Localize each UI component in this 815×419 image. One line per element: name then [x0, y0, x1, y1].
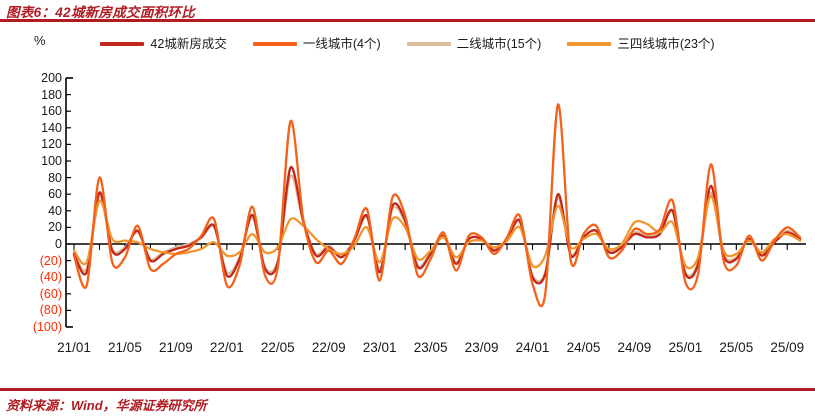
y-axis-tick-label: (20)	[16, 254, 62, 267]
y-axis-tick-label: (100)	[16, 321, 62, 334]
x-axis-tick-labels: 21/0121/0521/0922/0122/0522/0923/0123/05…	[0, 341, 815, 367]
y-axis-tick-label: 180	[16, 88, 62, 101]
x-axis-tick-label: 25/01	[668, 341, 702, 355]
x-axis-tick-label: 21/05	[108, 341, 142, 355]
legend-swatch-icon	[567, 42, 611, 46]
x-axis-tick-label: 24/01	[516, 341, 550, 355]
y-axis-tick-label: 80	[16, 171, 62, 184]
y-axis-tick-label: 0	[16, 238, 62, 251]
y-axis-tick-label: (80)	[16, 304, 62, 317]
footer-divider	[0, 388, 815, 391]
x-axis-tick-label: 21/09	[159, 341, 193, 355]
x-axis-tick-label: 22/09	[312, 341, 346, 355]
legend-item-1[interactable]: 一线城市(4个)	[253, 38, 381, 51]
chart-legend: 42城新房成交一线城市(4个)二线城市(15个)三四线城市(23个)	[0, 34, 815, 54]
x-axis-tick-label: 24/09	[618, 341, 652, 355]
y-axis-tick-label: 140	[16, 122, 62, 135]
y-axis-tick-label: (40)	[16, 271, 62, 284]
y-axis-tick-labels: 200180160140120100806040200(20)(40)(60)(…	[10, 60, 62, 360]
source-note: 资料来源：Wind，华源证券研究所	[6, 395, 207, 414]
chart-svg	[0, 60, 815, 360]
legend-label: 一线城市(4个)	[303, 38, 381, 51]
legend-label: 42城新房成交	[150, 38, 226, 51]
y-axis-tick-label: 160	[16, 105, 62, 118]
legend-swatch-icon	[100, 42, 144, 46]
x-axis-tick-label: 23/01	[363, 341, 397, 355]
x-axis-tick-label: 21/01	[57, 341, 91, 355]
title-divider	[0, 19, 815, 22]
legend-label: 二线城市(15个)	[457, 38, 542, 51]
y-axis-tick-label: 200	[16, 72, 62, 85]
legend-swatch-icon	[253, 42, 297, 46]
x-axis-tick-label: 22/01	[210, 341, 244, 355]
legend-item-0[interactable]: 42城新房成交	[100, 38, 226, 51]
y-axis-tick-label: 20	[16, 221, 62, 234]
y-axis-tick-label: 60	[16, 188, 62, 201]
legend-item-2[interactable]: 二线城市(15个)	[407, 38, 542, 51]
x-axis-tick-label: 25/09	[770, 341, 804, 355]
y-axis-unit-label: %	[34, 33, 46, 48]
x-axis-tick-label: 23/05	[414, 341, 448, 355]
page-title: 图表6：42城新房成交面积环比	[6, 1, 195, 21]
chart-header: 图表6：42城新房成交面积环比	[0, 0, 815, 22]
series-line-3	[74, 196, 800, 268]
y-axis-tick-label: 100	[16, 155, 62, 168]
x-axis-tick-label: 24/05	[567, 341, 601, 355]
y-axis-tick-label: (60)	[16, 288, 62, 301]
series-line-2	[74, 175, 800, 281]
x-axis-tick-label: 25/05	[719, 341, 753, 355]
chart-plot-area	[0, 60, 815, 360]
legend-swatch-icon	[407, 42, 451, 46]
x-axis-tick-label: 22/05	[261, 341, 295, 355]
x-axis-tick-label: 23/09	[465, 341, 499, 355]
y-axis-tick-label: 120	[16, 138, 62, 151]
legend-label: 三四线城市(23个)	[617, 38, 714, 51]
y-axis-tick-label: 40	[16, 205, 62, 218]
series-line-0	[74, 167, 800, 283]
legend-item-3[interactable]: 三四线城市(23个)	[567, 38, 714, 51]
